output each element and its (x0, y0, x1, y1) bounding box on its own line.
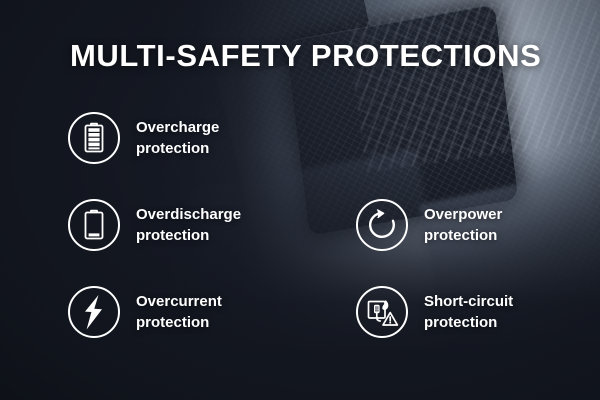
page-title: MULTI-SAFETY PROTECTIONS (70, 38, 541, 74)
feature-label-line1: Overdischarge (136, 206, 241, 223)
feature-label-line2: protection (424, 225, 502, 246)
banner-content: MULTI-SAFETY PROTECTIONS Overcharge prot… (0, 0, 600, 400)
feature-label-overpower: Overpower protection (424, 204, 502, 247)
feature-label-shortcircuit: Short-circuit protection (424, 291, 513, 334)
feature-overcurrent: Overcurrent protection (68, 286, 222, 338)
safety-protections-banner: MULTI-SAFETY PROTECTIONS Overcharge prot… (0, 0, 600, 400)
feature-label-line1: Overcharge (136, 119, 219, 136)
battery-empty-icon (68, 199, 120, 251)
feature-label-overcurrent: Overcurrent protection (136, 291, 222, 334)
feature-overpower: Overpower protection (356, 199, 502, 251)
feature-shortcircuit: Short-circuit protection (356, 286, 513, 338)
feature-label-line2: protection (136, 138, 219, 159)
plug-flame-warning-icon (356, 286, 408, 338)
feature-label-line1: Overpower (424, 206, 502, 223)
feature-label-line2: protection (136, 225, 241, 246)
feature-label-line2: protection (424, 312, 513, 333)
feature-overdischarge: Overdischarge protection (68, 199, 241, 251)
battery-full-icon (68, 112, 120, 164)
circular-arrow-icon (356, 199, 408, 251)
feature-label-overdischarge: Overdischarge protection (136, 204, 241, 247)
lightning-bolt-icon (68, 286, 120, 338)
feature-label-line2: protection (136, 312, 222, 333)
feature-label-overcharge: Overcharge protection (136, 117, 219, 160)
feature-label-line1: Overcurrent (136, 293, 222, 310)
feature-label-line1: Short-circuit (424, 293, 513, 310)
feature-overcharge: Overcharge protection (68, 112, 219, 164)
